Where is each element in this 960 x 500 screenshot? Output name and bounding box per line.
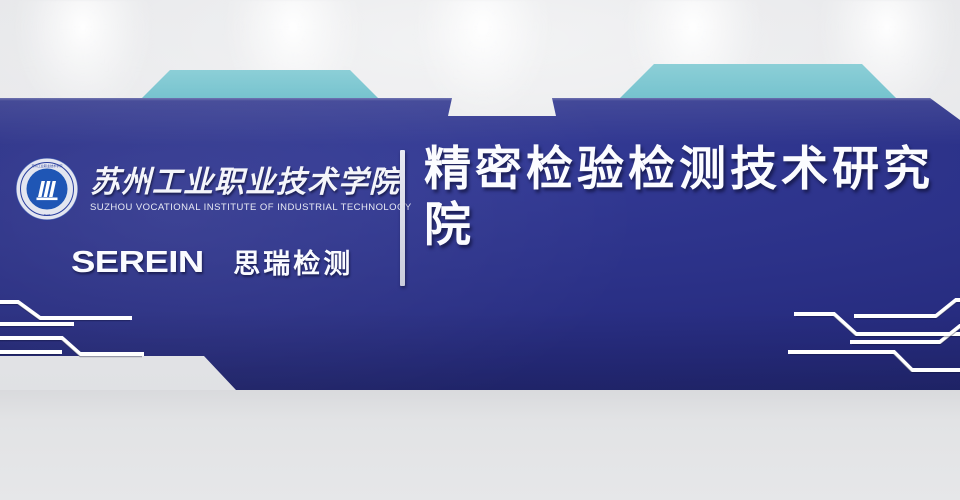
university-text: 苏州工业职业技术学院 SUZHOU VOCATIONAL INSTITUTE O… [90,164,412,214]
university-name-en: SUZHOU VOCATIONAL INSTITUTE OF INDUSTRIA… [90,202,412,214]
institute-title: 精密检验检测技术研究院 [424,142,944,254]
signage-scene: 苏州工业职业技术学院 SVIIT 苏州工业职业技术学院 SUZHOU VOCAT… [0,0,960,500]
brand-column: 苏州工业职业技术学院 SVIIT 苏州工业职业技术学院 SUZHOU VOCAT… [14,156,392,281]
university-crest-icon: 苏州工业职业技术学院 SVIIT [14,156,80,222]
partner-lockup: SEREIN 思瑞检测 [14,242,392,281]
svg-text:SVIIT: SVIIT [44,213,51,217]
board-content: 苏州工业职业技术学院 SVIIT 苏州工业职业技术学院 SUZHOU VOCAT… [0,98,960,392]
serein-wordmark-cn: 思瑞检测 [233,242,353,281]
serein-wordmark-en: SEREIN [71,244,204,280]
floor [0,390,960,500]
vertical-divider [400,150,405,286]
university-name-cn: 苏州工业职业技术学院 [90,166,412,200]
university-lockup: 苏州工业职业技术学院 SVIIT 苏州工业职业技术学院 SUZHOU VOCAT… [14,156,392,222]
svg-text:苏州工业职业技术学院: 苏州工业职业技术学院 [32,163,63,168]
